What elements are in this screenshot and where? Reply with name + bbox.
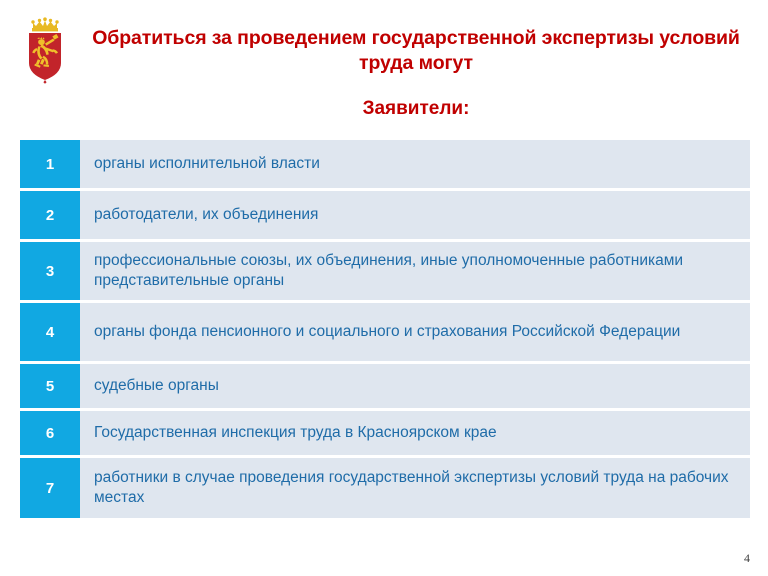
title-block: Обратиться за проведением государственно…: [84, 26, 748, 76]
row-text: Государственная инспекция труда в Красно…: [80, 411, 750, 455]
row-number: 5: [20, 364, 80, 408]
table-row: 5 судебные органы: [20, 364, 750, 408]
row-number: 6: [20, 411, 80, 455]
row-number: 3: [20, 242, 80, 300]
page-subtitle: Заявители:: [84, 98, 748, 121]
table-row: 1 органы исполнительной власти: [20, 140, 750, 188]
applicants-table: 1 органы исполнительной власти 2 работод…: [20, 140, 750, 518]
row-text: работники в случае проведения государств…: [80, 458, 750, 518]
page-title: Обратиться за проведением государственно…: [84, 26, 748, 76]
table-row: 3 профессиональные союзы, их объединения…: [20, 242, 750, 300]
row-text: органы исполнительной власти: [80, 140, 750, 188]
slide: Обратиться за проведением государственно…: [0, 0, 768, 576]
page-number: 4: [744, 551, 750, 566]
table-row: 6 Государственная инспекция труда в Крас…: [20, 411, 750, 455]
row-text: профессиональные союзы, их объединения, …: [80, 242, 750, 300]
row-number: 7: [20, 458, 80, 518]
row-text: органы фонда пенсионного и социального и…: [80, 303, 750, 361]
table-row: 7 работники в случае проведения государс…: [20, 458, 750, 518]
row-text: работодатели, их объединения: [80, 191, 750, 239]
row-number: 1: [20, 140, 80, 188]
row-number: 2: [20, 191, 80, 239]
slide-header: Обратиться за проведением государственно…: [0, 0, 768, 130]
row-text: судебные органы: [80, 364, 750, 408]
table-row: 2 работодатели, их объединения: [20, 191, 750, 239]
table-row: 4 органы фонда пенсионного и социального…: [20, 303, 750, 361]
row-number: 4: [20, 303, 80, 361]
krasnoyarsk-coat-of-arms-icon: [22, 16, 68, 84]
subtitle-block: Заявители:: [84, 98, 748, 121]
